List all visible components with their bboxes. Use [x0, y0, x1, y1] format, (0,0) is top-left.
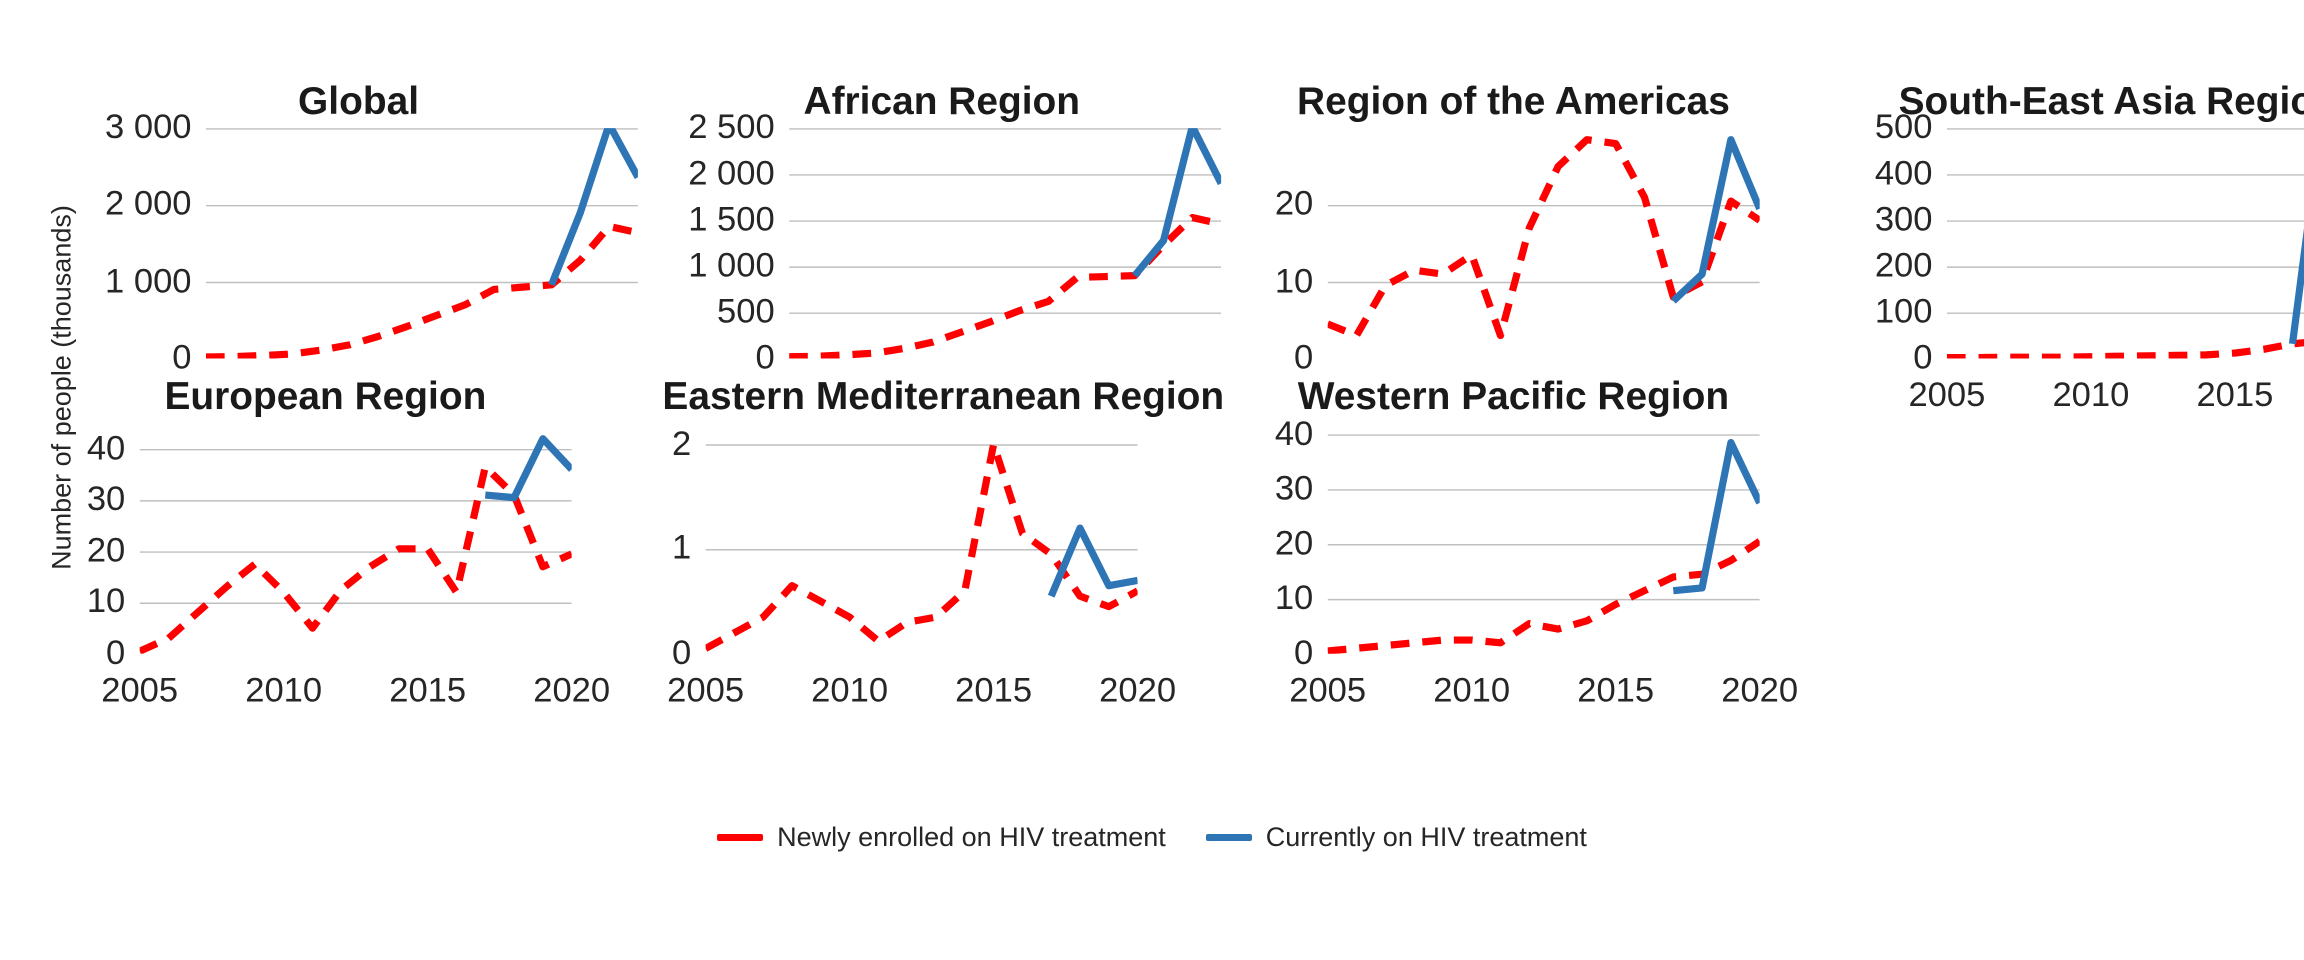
y-tick-label: 1 000	[79, 262, 191, 302]
y-tick-label: 500	[662, 292, 774, 332]
y-tick-label: 40	[79, 429, 125, 469]
y-tick-label: 20	[1267, 185, 1313, 225]
legend-item-newly[interactable]: Newly enrolled on HIV treatment	[717, 822, 1166, 853]
legend-label-newly: Newly enrolled on HIV treatment	[777, 822, 1166, 853]
chart-title-emro: Eastern Mediterranean Region	[662, 374, 1137, 419]
plot-area-wpro	[1328, 423, 1760, 653]
y-tick-label: 10	[1267, 579, 1313, 619]
series-line-currently	[1135, 128, 1221, 275]
chart-legend: Newly enrolled on HIV treatment Currentl…	[0, 822, 2304, 853]
y-tick-label: 2 000	[79, 185, 191, 225]
series-line-currently	[2292, 128, 2304, 344]
y-tick-label: 20	[79, 531, 125, 571]
plot-area-global	[206, 128, 638, 358]
y-tick-label: 0	[662, 634, 691, 674]
y-tick-label: 1	[662, 529, 691, 569]
legend-swatch-newly	[717, 834, 763, 841]
y-tick-label: 2 500	[662, 108, 774, 148]
y-tick-label: 30	[1267, 469, 1313, 509]
chart-title-wpro: Western Pacific Region	[1267, 374, 1759, 419]
y-tick-label: 10	[79, 582, 125, 622]
x-tick-label: 2015	[1577, 671, 1654, 711]
y-tick-label: 0	[79, 634, 125, 674]
plot-area-european	[140, 423, 572, 653]
series-line-newly	[1947, 318, 2304, 358]
x-tick-label: 2020	[1099, 671, 1176, 711]
y-tick-label: 400	[1858, 154, 1933, 194]
y-tick-label: 1 000	[662, 246, 774, 286]
x-tick-label: 2010	[811, 671, 888, 711]
y-tick-label: 2	[662, 424, 691, 464]
y-tick-label: 100	[1858, 292, 1933, 332]
series-line-newly	[206, 226, 638, 357]
x-tick-label: 2005	[1908, 376, 1985, 416]
y-tick-label: 0	[79, 338, 191, 378]
y-tick-label: 0	[662, 338, 774, 378]
x-tick-label: 2005	[101, 671, 178, 711]
series-line-newly	[1328, 140, 1760, 336]
y-tick-label: 0	[1267, 338, 1313, 378]
plot-area-americas	[1328, 128, 1760, 358]
x-tick-label: 2010	[2052, 376, 2129, 416]
x-tick-label: 2005	[667, 671, 744, 711]
y-tick-label: 1 500	[662, 200, 774, 240]
series-line-currently	[552, 128, 638, 285]
y-tick-label: 0	[1858, 338, 1933, 378]
series-line-newly	[789, 218, 1221, 357]
y-tick-label: 30	[79, 480, 125, 520]
y-tick-label: 40	[1267, 414, 1313, 454]
chart-title-european: European Region	[79, 374, 571, 419]
y-tick-label: 3 000	[79, 108, 191, 148]
series-line-currently	[1673, 443, 1759, 591]
y-tick-label: 20	[1267, 524, 1313, 564]
y-axis-title: Number of people (thousands)	[47, 178, 78, 598]
legend-label-currently: Currently on HIV treatment	[1266, 822, 1587, 853]
x-tick-label: 2020	[533, 671, 610, 711]
y-tick-label: 500	[1858, 108, 1933, 148]
y-tick-label: 10	[1267, 262, 1313, 302]
x-tick-label: 2015	[389, 671, 466, 711]
x-tick-label: 2005	[1289, 671, 1366, 711]
plot-area-emro	[706, 423, 1138, 653]
chart-title-americas: Region of the Americas	[1267, 79, 1759, 124]
legend-swatch-currently	[1206, 834, 1252, 841]
series-line-currently	[1051, 528, 1137, 596]
y-tick-label: 200	[1858, 246, 1933, 286]
y-tick-label: 2 000	[662, 154, 774, 194]
series-line-currently	[485, 439, 571, 498]
y-tick-label: 0	[1267, 634, 1313, 674]
plot-area-african	[789, 128, 1221, 358]
chart-page: Number of people (thousands) Global01 00…	[0, 0, 2304, 960]
series-line-currently	[1673, 140, 1759, 301]
series-line-newly	[1328, 541, 1760, 651]
x-tick-label: 2020	[1721, 671, 1798, 711]
x-tick-label: 2010	[1433, 671, 1510, 711]
x-tick-label: 2010	[245, 671, 322, 711]
y-tick-label: 300	[1858, 200, 1933, 240]
plot-area-sea	[1947, 128, 2304, 358]
x-tick-label: 2015	[955, 671, 1032, 711]
legend-item-currently[interactable]: Currently on HIV treatment	[1206, 822, 1587, 853]
x-tick-label: 2015	[2196, 376, 2273, 416]
